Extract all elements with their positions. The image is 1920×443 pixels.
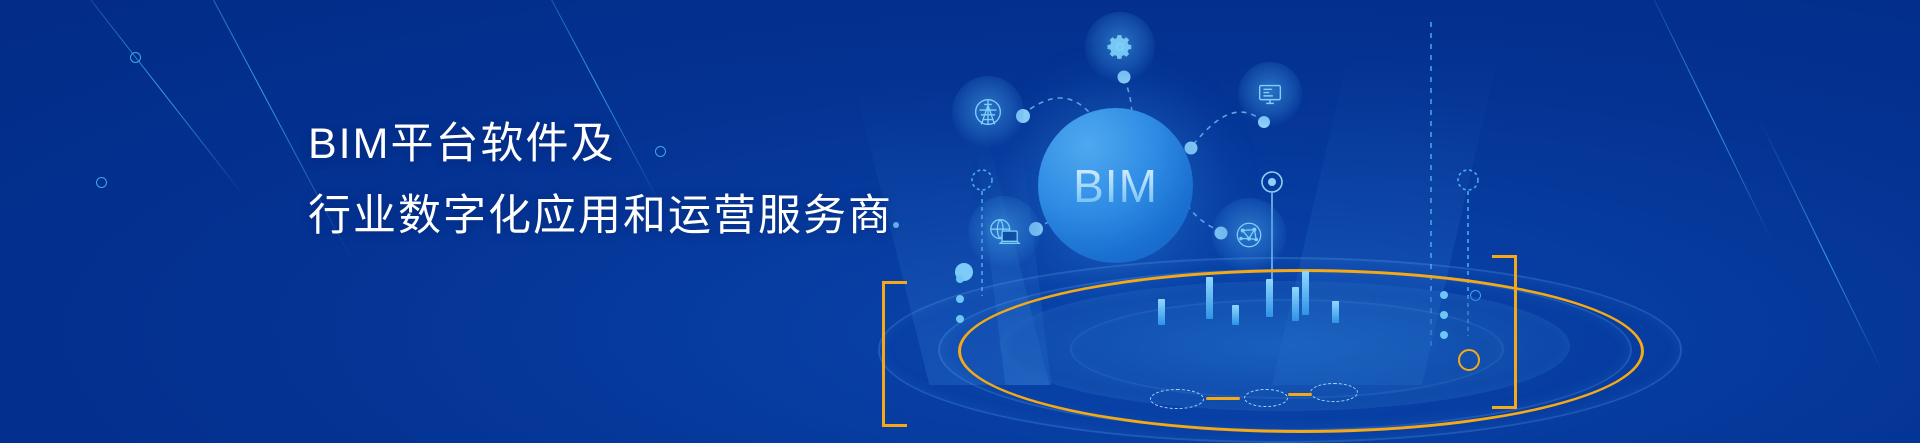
page-title: BIM平台软件及 行业数字化应用和运营服务商 (308, 108, 893, 252)
hero-banner: BIM平台软件及 行业数字化应用和运营服务商 (0, 0, 1920, 443)
gear-icon (1105, 32, 1135, 62)
headline-line-1: BIM平台软件及 (308, 108, 893, 180)
ring-marker (1244, 389, 1288, 407)
data-bar (1232, 305, 1239, 325)
gold-ring (958, 269, 1644, 433)
data-bar (1302, 271, 1309, 315)
node-monitor[interactable] (1238, 62, 1302, 126)
headline-line-2: 行业数字化应用和运营服务商 (308, 180, 893, 252)
accent-dot (956, 295, 964, 303)
ring-dot (96, 177, 107, 188)
diagonal-line (60, 0, 245, 197)
gold-segment (1288, 393, 1312, 396)
accent-dot (956, 315, 964, 323)
power-tower-icon (969, 93, 1007, 131)
node-gear[interactable] (1085, 12, 1155, 82)
accent-dot (1440, 331, 1448, 339)
bim-illustration: BIM (840, 0, 1920, 443)
data-bar (1332, 301, 1339, 323)
data-bar (1292, 287, 1299, 321)
gold-circle (1458, 349, 1480, 371)
data-bar (1206, 277, 1213, 319)
accent-dot (1440, 311, 1448, 319)
data-bar (1266, 279, 1273, 317)
node-power-tower[interactable] (952, 76, 1024, 148)
bracket-right (1492, 255, 1517, 409)
ring-marker (1150, 389, 1204, 409)
gold-segment (1206, 397, 1240, 400)
ring-marker (1310, 383, 1358, 402)
ring-dot (130, 52, 141, 63)
monitor-icon (1255, 79, 1285, 109)
accent-dot (956, 275, 964, 283)
data-bar (1158, 299, 1165, 325)
accent-dot (1440, 291, 1448, 299)
radar-base (840, 203, 1920, 443)
bracket-left (882, 281, 907, 427)
